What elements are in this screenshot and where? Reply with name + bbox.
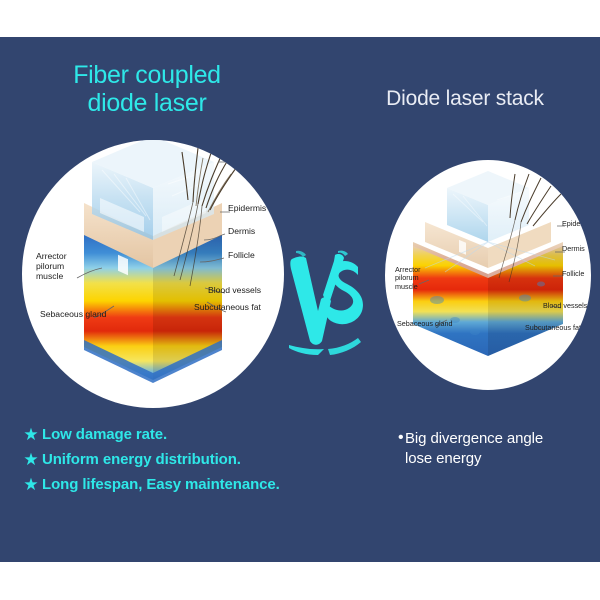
left-title-line2: diode laser	[22, 89, 272, 117]
label-arrector-pilorum-muscle: Arrector pilorum muscle	[36, 252, 67, 282]
list-item-label: Low damage rate.	[42, 425, 167, 444]
label-follicle: Follicle	[228, 251, 255, 261]
label-blood-vessels: Blood vessels	[543, 302, 587, 310]
list-item-label-line1: Big divergence angle	[405, 430, 543, 447]
list-item-label-line2: lose energy	[405, 450, 481, 467]
right-feature-list: • Big divergence angle lose energy	[398, 429, 598, 469]
star-icon: ★	[20, 475, 42, 494]
star-icon: ★	[20, 450, 42, 469]
dot-icon: •	[398, 429, 405, 447]
list-item-label: Uniform energy distribution.	[42, 450, 241, 469]
list-item: ★ Low damage rate.	[20, 425, 280, 444]
label-sebaceous-gland: Sebaceous gland	[40, 310, 106, 320]
right-diagram-circle: Hair Epidermis Dermis Follicle Blood ves…	[385, 160, 591, 390]
list-item: • Big divergence angle lose energy	[398, 429, 598, 469]
star-icon: ★	[20, 425, 42, 444]
left-feature-list: ★ Low damage rate. ★ Uniform energy dist…	[20, 425, 280, 500]
label-arrector-line3: muscle	[36, 272, 67, 282]
label-subcutaneous-fat: Subcutaneous fat	[194, 303, 261, 313]
label-arrector-pilorum-muscle: Arrector pilorum muscle	[395, 266, 421, 291]
label-dermis: Dermis	[228, 227, 255, 237]
right-title: Diode laser stack	[340, 87, 590, 111]
label-hair: Hair	[562, 178, 575, 186]
left-skin-diagram: Hair Epidermis Dermis Follicle Blood ves…	[22, 140, 284, 408]
label-follicle: Follicle	[562, 270, 584, 278]
left-title: Fiber coupled diode laser	[22, 61, 272, 117]
list-item-label: Long lifespan, Easy maintenance.	[42, 475, 280, 494]
list-item-label: Big divergence angle lose energy	[405, 429, 543, 469]
vs-icon	[288, 249, 364, 361]
label-blood-vessels: Blood vessels	[208, 286, 261, 296]
label-epidermis: Epidermis	[228, 204, 266, 214]
left-diagram-circle: Hair Epidermis Dermis Follicle Blood ves…	[22, 140, 284, 408]
list-item: ★ Uniform energy distribution.	[20, 450, 280, 469]
comparison-infographic: Fiber coupled diode laser Diode laser st…	[0, 0, 600, 600]
label-dermis: Dermis	[562, 245, 585, 253]
blue-panel: Fiber coupled diode laser Diode laser st…	[0, 37, 600, 562]
label-epidermis: Epidermis	[562, 220, 591, 228]
vs-graphic	[288, 249, 364, 361]
label-arrector-line3: muscle	[395, 283, 421, 291]
left-title-line1: Fiber coupled	[22, 61, 272, 89]
label-sebaceous-gland: Sebaceous gland	[397, 320, 453, 328]
right-skin-diagram: Hair Epidermis Dermis Follicle Blood ves…	[385, 160, 591, 390]
label-hair: Hair	[228, 155, 244, 165]
list-item: ★ Long lifespan, Easy maintenance.	[20, 475, 280, 494]
label-subcutaneous-fat: Subcutaneous fat	[525, 324, 581, 332]
